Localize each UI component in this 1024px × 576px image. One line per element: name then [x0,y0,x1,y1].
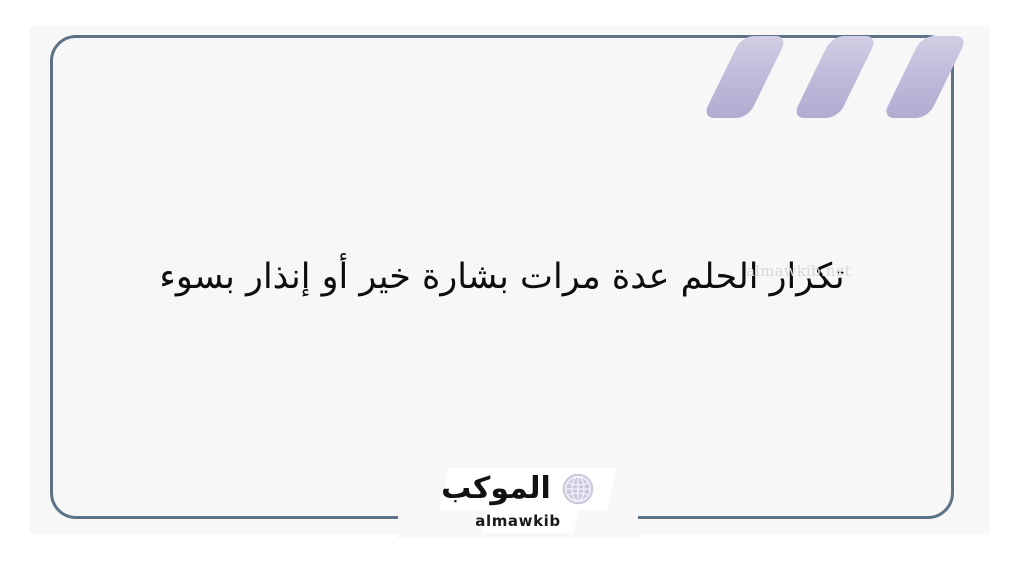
logo-row: الموكب [398,466,638,512]
globe-icon [561,472,595,506]
quote-text: تكرار الحلم عدة مرات بشارة خير أو إنذار … [159,251,844,304]
quote-card-stage: تكرار الحلم عدة مرات بشارة خير أو إنذار … [0,0,1024,576]
logo-name-arabic: الموكب [441,474,551,504]
logo-name-latin: almawkib [398,512,638,530]
quote-container: تكرار الحلم عدة مرات بشارة خير أو إنذار … [50,35,954,519]
brand-logo[interactable]: الموكب almawkib [398,464,638,538]
